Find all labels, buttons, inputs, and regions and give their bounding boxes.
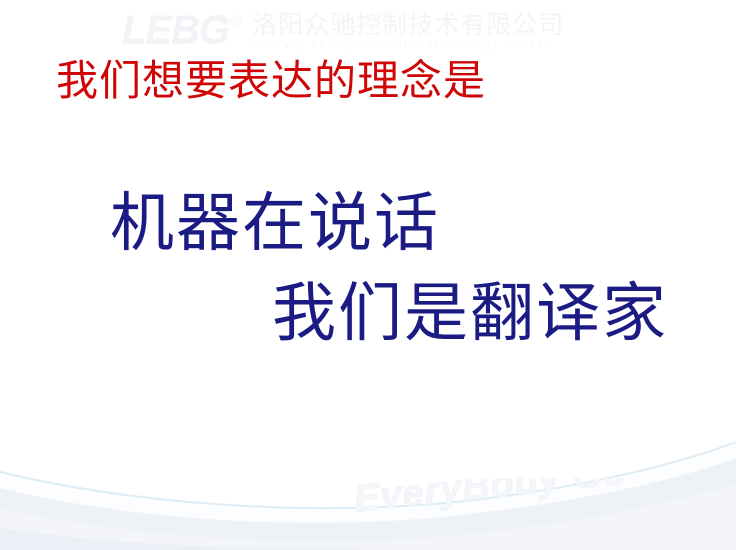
footer-slogan: EveryBody Go	[352, 478, 736, 534]
slide-heading: 我们想要表达的理念是	[56, 58, 486, 106]
lebg-logo-icon: LEBG	[122, 10, 229, 50]
footer-slogan-text: EveryBody Go	[352, 478, 736, 522]
company-name-chinese: 洛阳众驰控制技术有限公司	[252, 11, 564, 39]
watermark-inner: LEBG ® 洛阳众驰控制技术有限公司 LuoYang Zhongchi Con…	[122, 10, 564, 52]
statement-line-2: 我们是翻译家	[272, 278, 668, 350]
statement-line-1: 机器在说话	[110, 188, 440, 260]
wave-graphic-icon	[0, 442, 736, 550]
registered-trademark-icon: ®	[231, 14, 242, 30]
watermark-company-block: 洛阳众驰控制技术有限公司 LuoYang Zhongchi Control Te…	[252, 11, 564, 52]
presentation-slide: LEBG ® 洛阳众驰控制技术有限公司 LuoYang Zhongchi Con…	[0, 0, 736, 550]
wave-decoration	[0, 442, 736, 550]
company-watermark: LEBG ® 洛阳众驰控制技术有限公司 LuoYang Zhongchi Con…	[0, 0, 736, 62]
company-name-english: LuoYang Zhongchi Control Technology Co.,…	[252, 40, 564, 52]
